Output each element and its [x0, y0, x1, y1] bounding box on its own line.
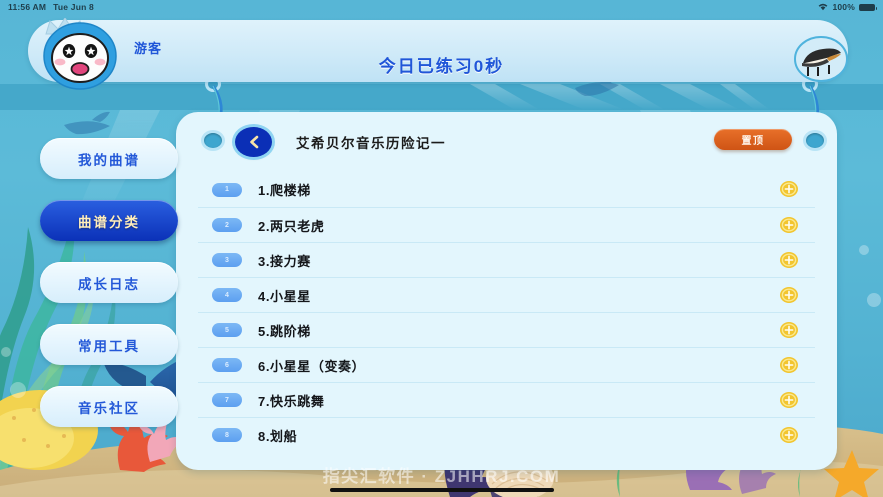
avatar[interactable]	[28, 18, 132, 92]
back-button[interactable]	[235, 127, 272, 157]
song-number-badge: 8	[212, 428, 242, 442]
page-title: 艾希贝尔音乐历险记一	[296, 132, 446, 152]
wifi-icon	[818, 3, 828, 11]
practice-summary-label: 今日已练习0秒	[0, 52, 883, 77]
song-list-panel: 艾希贝尔音乐历险记一 置顶 1 1.爬楼梯 2 2.两只老虎 3 3.接力赛	[176, 112, 837, 470]
panel-header: 艾希贝尔音乐历险记一 置顶	[176, 112, 837, 172]
status-date: Tue Jun 8	[53, 2, 94, 12]
song-number-badge: 5	[212, 323, 242, 337]
pin-to-top-button[interactable]: 置顶	[714, 129, 792, 150]
list-item[interactable]: 3 3.接力赛	[198, 242, 815, 277]
pin-button-label: 置顶	[742, 132, 765, 147]
panel-hook-right-icon	[806, 133, 824, 148]
list-item[interactable]: 5 5.跳阶梯	[198, 312, 815, 347]
sidebar-item-label: 我的曲谱	[78, 149, 140, 169]
plus-circle-icon[interactable]	[779, 216, 799, 234]
song-number-badge: 1	[212, 183, 242, 197]
status-bar: 11:56 AM Tue Jun 8 100%	[0, 0, 883, 14]
list-item[interactable]: 8 8.划船	[198, 417, 815, 452]
plus-circle-icon[interactable]	[779, 321, 799, 339]
song-title: 7.快乐跳舞	[258, 391, 324, 410]
sidebar-item-label: 成长日志	[78, 273, 140, 293]
battery-full-icon	[859, 4, 875, 11]
sidebar-item-growth-log[interactable]: 成长日志	[40, 262, 178, 303]
list-item[interactable]: 2 2.两只老虎	[198, 207, 815, 242]
plus-circle-icon[interactable]	[779, 251, 799, 269]
song-title: 1.爬楼梯	[258, 180, 311, 199]
sidebar-item-label: 音乐社区	[78, 397, 140, 417]
home-indicator[interactable]	[330, 488, 554, 492]
panel-hook-left-icon	[204, 133, 222, 148]
sidebar-item-common-tools[interactable]: 常用工具	[40, 324, 178, 365]
sidebar-item-my-scores[interactable]: 我的曲谱	[40, 138, 178, 179]
status-time: 11:56 AM	[8, 2, 46, 12]
list-item[interactable]: 6 6.小星星（变奏）	[198, 347, 815, 382]
song-number-badge: 3	[212, 253, 242, 267]
plus-circle-icon[interactable]	[779, 391, 799, 409]
battery-percent-label: 100%	[832, 2, 855, 12]
grand-piano-icon[interactable]	[793, 34, 849, 84]
plus-circle-icon[interactable]	[779, 286, 799, 304]
song-title: 5.跳阶梯	[258, 321, 311, 340]
song-title: 4.小星星	[258, 286, 311, 305]
song-list: 1 1.爬楼梯 2 2.两只老虎 3 3.接力赛 4 4.小星星	[176, 172, 837, 452]
list-item[interactable]: 4 4.小星星	[198, 277, 815, 312]
song-number-badge: 7	[212, 393, 242, 407]
chevron-left-icon	[248, 135, 260, 149]
song-number-badge: 6	[212, 358, 242, 372]
sidebar-item-score-categories[interactable]: 曲谱分类	[40, 200, 178, 241]
list-item[interactable]: 1 1.爬楼梯	[198, 172, 815, 207]
plus-circle-icon[interactable]	[779, 426, 799, 444]
sidebar-item-music-community[interactable]: 音乐社区	[40, 386, 178, 427]
sidebar-item-label: 曲谱分类	[78, 211, 140, 231]
song-title: 6.小星星（变奏）	[258, 356, 365, 375]
sidebar: 我的曲谱 曲谱分类 成长日志 常用工具 音乐社区	[40, 138, 178, 427]
list-item[interactable]: 7 7.快乐跳舞	[198, 382, 815, 417]
song-number-badge: 4	[212, 288, 242, 302]
song-title: 2.两只老虎	[258, 216, 324, 235]
song-title: 8.划船	[258, 426, 297, 445]
sidebar-item-label: 常用工具	[78, 335, 140, 355]
song-number-badge: 2	[212, 218, 242, 232]
plus-circle-icon[interactable]	[779, 180, 799, 198]
plus-circle-icon[interactable]	[779, 356, 799, 374]
song-title: 3.接力赛	[258, 251, 311, 270]
